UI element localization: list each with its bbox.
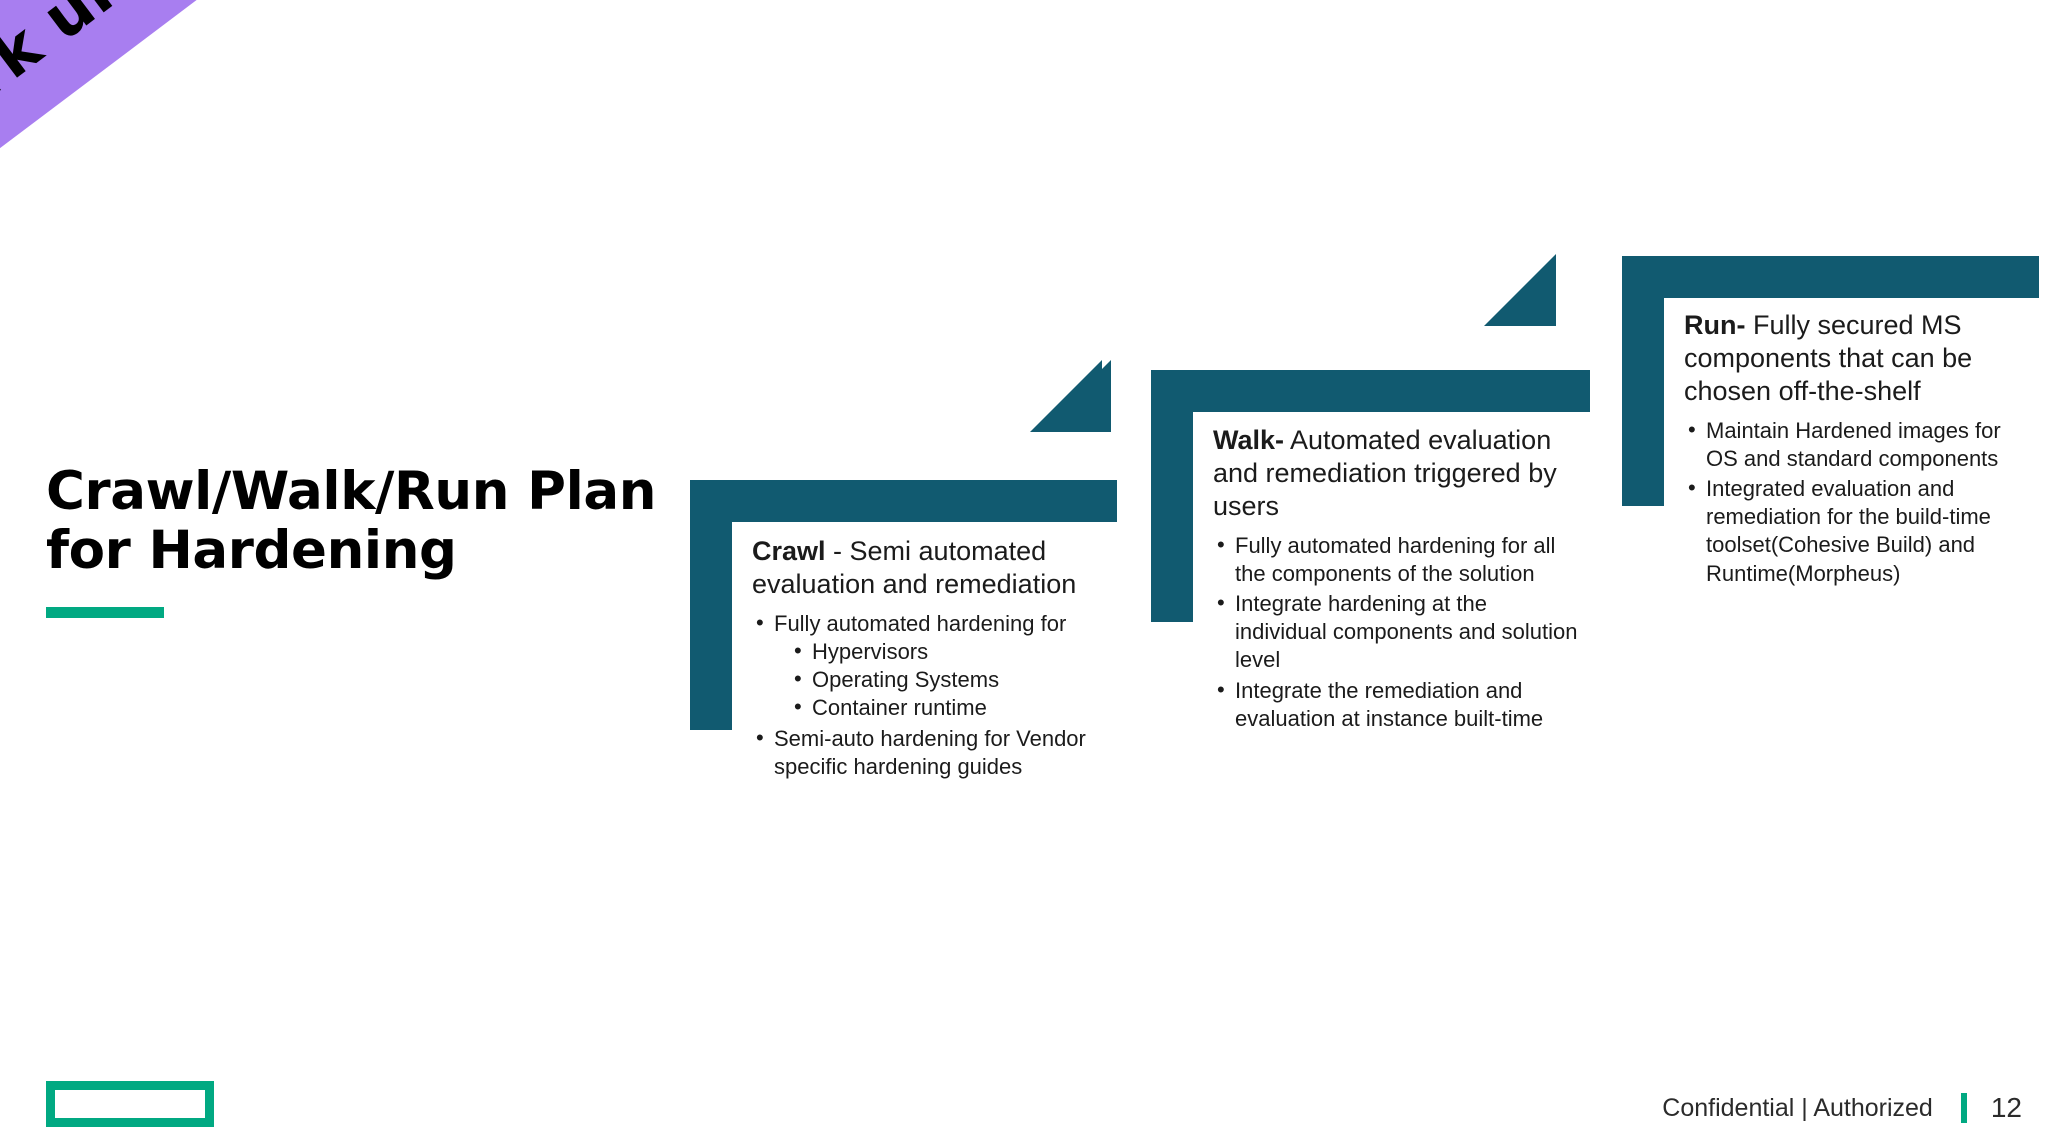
page-number: 12 <box>1991 1092 2022 1124</box>
crawl-side-bar <box>690 480 732 730</box>
run-heading: Run- Fully secured MS components that ca… <box>1684 309 2024 408</box>
crawl-lead-label: Crawl <box>752 536 826 566</box>
run-lead-label: Run- <box>1684 310 1745 340</box>
crawl-bullet-0-text: Fully automated hardening for <box>774 611 1066 636</box>
stage-card-walk: Walk- Automated evaluation and remediati… <box>1040 358 1490 758</box>
work-under-progress-banner: Work under Progress <box>0 0 482 170</box>
run-bullet-list: Maintain Hardened images for OS and stan… <box>1684 417 2024 588</box>
walk-side-bar <box>1151 370 1193 622</box>
list-item: Maintain Hardened images for OS and stan… <box>1684 417 2024 473</box>
page-title: Crawl/Walk/Run Plan for Hardening <box>46 462 666 581</box>
work-under-progress-label: Work under Progress <box>0 0 482 170</box>
hpe-logo <box>46 1081 214 1127</box>
list-item: Integrated evaluation and remediation fo… <box>1684 475 2024 588</box>
walk-lead-label: Walk- <box>1213 425 1284 455</box>
footer: Confidential | Authorized 12 <box>1662 1092 2022 1124</box>
walk-corner-triangle <box>1030 360 1102 432</box>
run-side-bar <box>1622 256 1664 506</box>
run-corner-triangle <box>1484 254 1556 326</box>
footer-confidential-label: Confidential | Authorized <box>1662 1094 1933 1123</box>
run-top-bar <box>1622 256 2039 298</box>
title-block: Crawl/Walk/Run Plan for Hardening <box>46 462 666 618</box>
list-item: Integrate the remediation and evaluation… <box>1213 677 1581 733</box>
footer-divider <box>1961 1093 1967 1123</box>
stage-card-run: Run- Fully secured MS components that ca… <box>1460 243 2050 643</box>
run-card-body: Run- Fully secured MS components that ca… <box>1684 309 2024 590</box>
title-accent-bar <box>46 607 164 618</box>
